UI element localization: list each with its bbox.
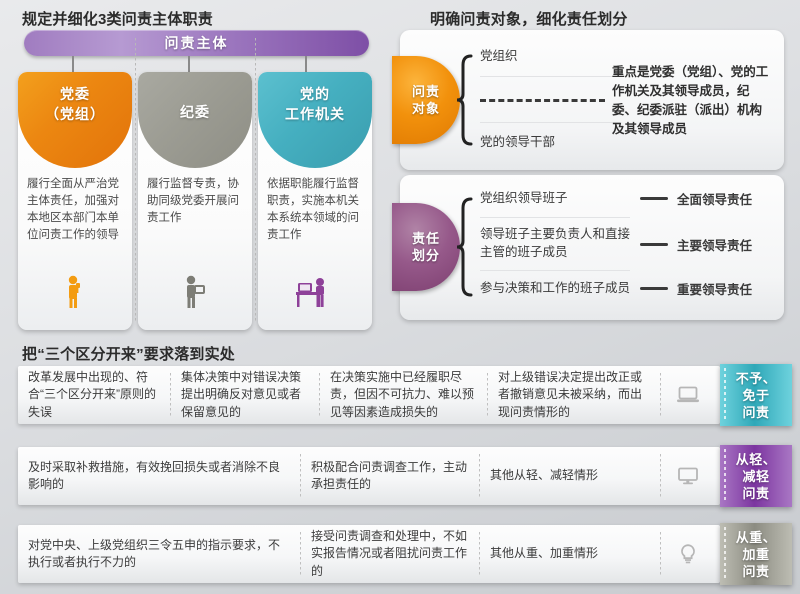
brace-icon (456, 197, 474, 297)
subject-card-party-work-organ[interactable]: 党的工作机关 依据职能履行监督职责，实施本机关本系统本领域的问责工作 (258, 72, 372, 330)
hairline (480, 270, 630, 271)
division-subject-3: 参与决策和工作的班子成员 (480, 279, 630, 297)
badge-label: 问责对象 (412, 83, 440, 117)
subject-card-header: 纪委 (138, 72, 252, 168)
result-tab-exempt[interactable]: 不予、免于问责 (720, 364, 792, 426)
responsibility-division-badge: 责任划分 (392, 203, 460, 291)
hairline (480, 76, 620, 77)
cell-divider (660, 532, 661, 576)
division-result-2: 主要领导责任 (677, 235, 752, 254)
subject-card-header: 党委（党组） (18, 72, 132, 168)
row-cell: 在决策实施中已经履职尽责，但因不可抗力、难以预见等因素造成损失的 (320, 366, 487, 424)
accountability-subjects-panel: 问责主体 党委（党组） 履行全面从严治党主体责任，加强对本地区本部门本单位问责工… (18, 30, 373, 330)
subject-card-body: 依据职能履行监督职责，实施本机关本系统本领域的问责工作 (267, 176, 364, 244)
person-phone-icon (18, 275, 132, 314)
row-cell: 改革发展中出现的、符合“三个区分开来”原则的失误 (18, 366, 170, 424)
leader-line (640, 287, 668, 290)
accountability-subject-banner-label: 问责主体 (165, 33, 229, 53)
division-subject-1: 党组织领导班子 (480, 189, 568, 207)
three-distinctions-row-1: 改革发展中出现的、符合“三个区分开来”原则的失误 集体决策中对错误决策提出明确反… (18, 366, 720, 424)
brace-icon (456, 54, 474, 146)
result-tab-label: 从重、加重问责 (736, 529, 777, 580)
row-cell: 对上级错误决定提出改正或者撤销意见未被采纳，而出现问责情形的 (488, 366, 660, 424)
object-item-2: 党的领导干部 (480, 133, 555, 151)
division-result-1: 全面领导责任 (677, 189, 752, 208)
dashed-divider (480, 99, 605, 102)
subject-card-header: 党的工作机关 (258, 72, 372, 168)
subject-card-list: 党委（党组） 履行全面从严治党主体责任，加强对本地区本部门本单位问责工作的领导 (18, 72, 373, 330)
accountability-subject-banner: 问责主体 (24, 30, 369, 56)
leader-line (640, 197, 668, 200)
cell-divider (660, 373, 661, 417)
row-cell: 其他从轻、减轻情形 (480, 447, 660, 505)
result-tab-aggravated[interactable]: 从重、加重问责 (720, 523, 792, 585)
lightbulb-icon (666, 525, 710, 583)
subject-card-body: 履行监督专责，协助同级党委开展问责工作 (147, 176, 244, 227)
responsibility-division-panel: 责任划分 党组织领导班子 全面领导责任 领导班子主要负责人和直接主管的班子成员 … (400, 175, 784, 320)
card-perforation-divider (255, 38, 256, 322)
accountability-object-badge: 问责对象 (392, 56, 460, 144)
connector-line-3 (305, 56, 307, 72)
row-cell: 对党中央、上级党组织三令五申的指示要求，不执行或者执行不力的 (18, 525, 300, 583)
subject-card-body: 履行全面从严治党主体责任，加强对本地区本部门本单位问责工作的领导 (27, 176, 124, 244)
row-cell: 接受问责调查和处理中，不如实报告情况或者阻扰问责工作的 (301, 525, 479, 583)
row-cell: 集体决策中对错误决策提出明确反对意见或者保留意见的 (171, 366, 319, 424)
infographic-page: 规定并细化3类问责主体职责 明确问责对象，细化责任划分 把“三个区分开来”要求落… (0, 0, 800, 594)
tab-perforation (724, 527, 726, 581)
section-title-left: 规定并细化3类问责主体职责 (22, 8, 213, 29)
leader-line (640, 243, 668, 246)
badge-label: 责任划分 (412, 230, 440, 264)
result-tab-label: 不予、免于问责 (736, 370, 777, 421)
connector-line-1 (72, 56, 74, 72)
person-board-icon (138, 275, 252, 314)
laptop-icon (666, 366, 710, 424)
division-result-3: 重要领导责任 (677, 279, 752, 298)
subject-card-party-committee[interactable]: 党委（党组） 履行全面从严治党主体责任，加强对本地区本部门本单位问责工作的领导 (18, 72, 132, 330)
result-tab-label: 从轻、减轻问责 (736, 451, 777, 502)
three-distinctions-row-3: 对党中央、上级党组织三令五申的指示要求，不执行或者执行不力的 接受问责调查和处理… (18, 525, 720, 583)
object-note: 重点是党委（党组）、党的工作机关及其领导成员，纪委、纪委派驻（派出）机构及其领导… (612, 63, 772, 139)
subject-card-title: 党委（党组） (18, 84, 132, 124)
row-cell: 其他从重、加重情形 (480, 525, 660, 583)
tab-perforation (724, 449, 726, 503)
row-cell: 及时采取补救措施，有效挽回损失或者消除不良影响的 (18, 447, 300, 505)
section-title-bottom: 把“三个区分开来”要求落到实处 (22, 343, 235, 364)
monitor-icon (666, 447, 710, 505)
object-item-1: 党组织 (480, 47, 518, 65)
subject-card-discipline-commission[interactable]: 纪委 履行监督专责，协助同级党委开展问责工作 (138, 72, 252, 330)
connector-line-2 (188, 56, 190, 72)
person-desk-icon (258, 277, 372, 314)
division-subject-2: 领导班子主要负责人和直接主管的班子成员 (480, 225, 640, 261)
three-distinctions-row-2: 及时采取补救措施，有效挽回损失或者消除不良影响的 积极配合问责调查工作，主动承担… (18, 447, 720, 505)
card-perforation-divider (135, 38, 136, 322)
subject-card-title: 纪委 (138, 102, 252, 122)
section-title-right: 明确问责对象，细化责任划分 (430, 8, 628, 29)
subject-card-title: 党的工作机关 (258, 84, 372, 124)
hairline (480, 122, 620, 123)
accountability-objects-panel: 问责对象 党组织 党的领导干部 重点是党委（党组）、党的工作机关及其领导成员，纪… (400, 30, 784, 170)
result-tab-mitigated[interactable]: 从轻、减轻问责 (720, 445, 792, 507)
tab-perforation (724, 368, 726, 422)
row-cell: 积极配合问责调查工作，主动承担责任的 (301, 447, 479, 505)
hairline (480, 217, 630, 218)
cell-divider (660, 454, 661, 498)
